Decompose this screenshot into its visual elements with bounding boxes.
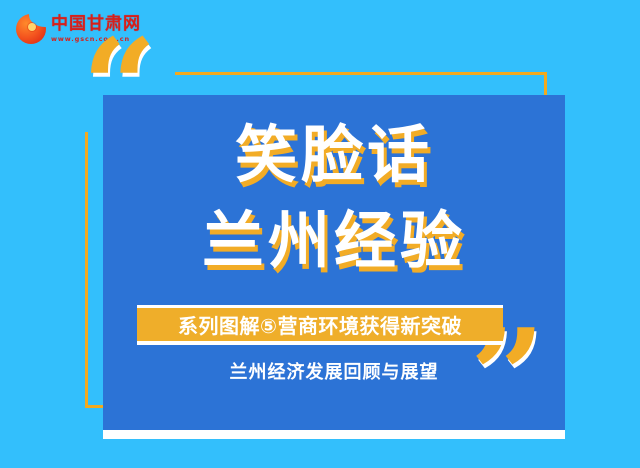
- frame-bottom-left-vertical: [85, 132, 88, 408]
- gansu-net-logo-icon: [16, 14, 46, 44]
- logo-dot-shape: [28, 23, 36, 31]
- banner-bottom-rule: [137, 341, 503, 345]
- banner-label: 系列图解⑤营商环境获得新突破: [178, 310, 462, 339]
- frame-top-right-horizontal: [175, 72, 547, 75]
- headline-line-1: 笑脸话: [235, 118, 433, 191]
- headline-line-2: 兰州经验: [103, 198, 565, 284]
- subtitle: 兰州经济发展回顾与展望: [103, 358, 565, 384]
- poster-canvas: 中国甘肃网 www.gscn.com.cn “ ” 笑脸话 兰州经验 系列图解⑤…: [0, 0, 640, 468]
- series-banner: 系列图解⑤营商环境获得新突破: [137, 305, 503, 345]
- banner-body: 系列图解⑤营商环境获得新突破: [137, 308, 503, 341]
- headline: 笑脸话 兰州经验: [103, 112, 565, 284]
